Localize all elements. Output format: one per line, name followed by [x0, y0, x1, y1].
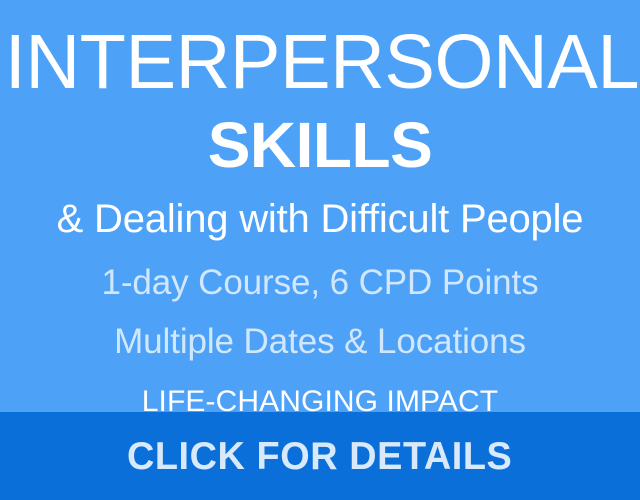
- ad-detail-dates: Multiple Dates & Locations: [0, 324, 640, 359]
- ad-content-area: INTERPERSONAL SKILLS & Dealing with Diff…: [0, 0, 640, 412]
- headline-primary: INTERPERSONAL: [5, 24, 635, 101]
- cta-button[interactable]: CLICK FOR DETAILS: [0, 412, 640, 500]
- ad-subtitle: & Dealing with Difficult People: [0, 199, 640, 239]
- cta-button-label: CLICK FOR DETAILS: [127, 437, 512, 476]
- ad-detail-course: 1-day Course, 6 CPD Points: [0, 265, 640, 300]
- advertisement-banner[interactable]: INTERPERSONAL SKILLS & Dealing with Diff…: [0, 0, 640, 500]
- headline-secondary: SKILLS: [0, 113, 640, 177]
